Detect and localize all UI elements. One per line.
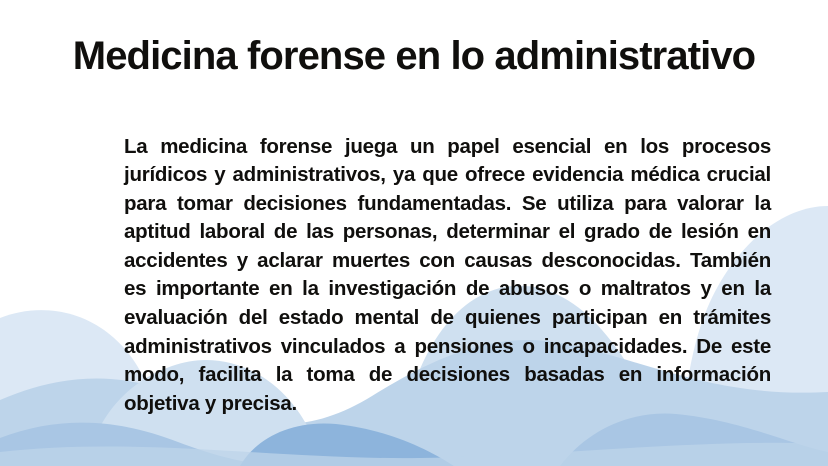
page-title: Medicina forense en lo administrativo: [0, 35, 828, 78]
slide-canvas: Medicina forense en lo administrativo La…: [0, 0, 828, 466]
slide-content: Medicina forense en lo administrativo La…: [0, 0, 828, 466]
body-paragraph: La medicina forense juega un papel esenc…: [124, 133, 771, 419]
